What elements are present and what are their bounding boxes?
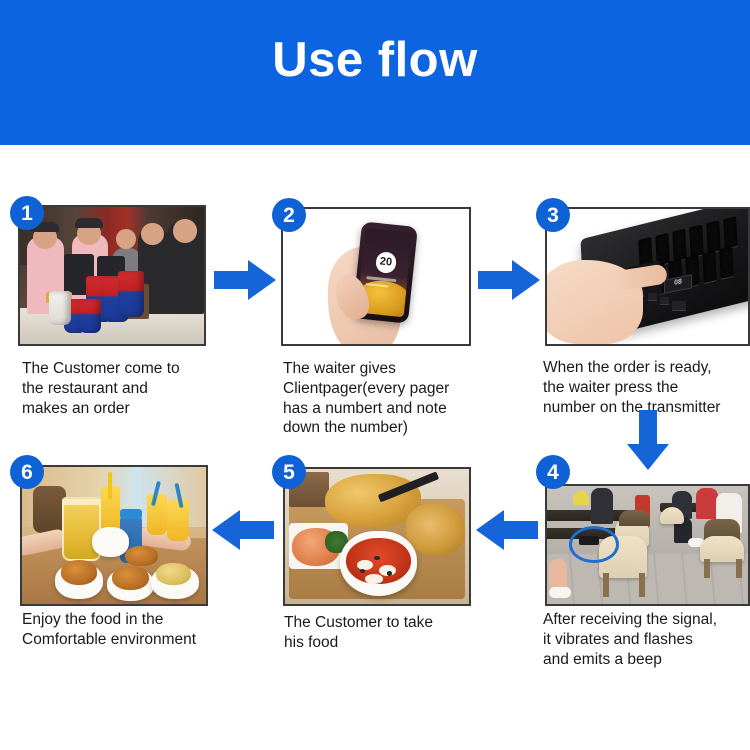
- step-2-badge: 2: [272, 198, 306, 232]
- step-3-badge: 3: [536, 198, 570, 232]
- use-flow-infographic: Use flow: [0, 0, 750, 750]
- header-banner: Use flow: [0, 0, 750, 145]
- step-2-caption: The waiter gives Clientpager(every pager…: [283, 359, 523, 438]
- arrow-step4-to-step5: [476, 508, 538, 552]
- step-4-badge: 4: [536, 455, 570, 489]
- photo-hand-pressing-transmitter-keypad: 08: [547, 209, 748, 344]
- step-6-caption: Enjoy the food in the Comfortable enviro…: [22, 610, 257, 650]
- arrow-step5-to-step6: [212, 508, 274, 552]
- arrow-step2-to-step3: [478, 258, 540, 302]
- step-4-image: [545, 484, 750, 606]
- step-1-image: [18, 205, 206, 346]
- step-6-image: [20, 465, 208, 606]
- page-title: Use flow: [272, 36, 477, 85]
- step-4-caption: After receiving the signal, it vibrates …: [543, 610, 750, 669]
- step-5-image: [283, 467, 471, 606]
- arrow-step3-to-step4: [625, 410, 671, 470]
- step-5-badge: 5: [272, 455, 306, 489]
- step-2-image: 20: [281, 207, 471, 346]
- phone-screen-number: 20: [375, 251, 398, 274]
- step-6-badge: 6: [10, 455, 44, 489]
- photo-customers-ordering-at-counter: [20, 207, 204, 344]
- photo-pager-on-table-in-restaurant: [547, 486, 748, 604]
- step-5-caption: The Customer to take his food: [284, 613, 514, 653]
- photo-hand-holding-phone-pager: 20: [283, 209, 469, 344]
- step-1-caption: The Customer come to the restaurant and …: [22, 359, 252, 418]
- step-3-caption: When the order is ready, the waiter pres…: [543, 358, 750, 417]
- photo-fried-food-platter: [285, 469, 469, 604]
- arrow-step1-to-step2: [214, 258, 276, 302]
- photo-friends-toasting-beer-with-food: [22, 467, 206, 604]
- step-3-image: 08: [545, 207, 750, 346]
- step-1-badge: 1: [10, 196, 44, 230]
